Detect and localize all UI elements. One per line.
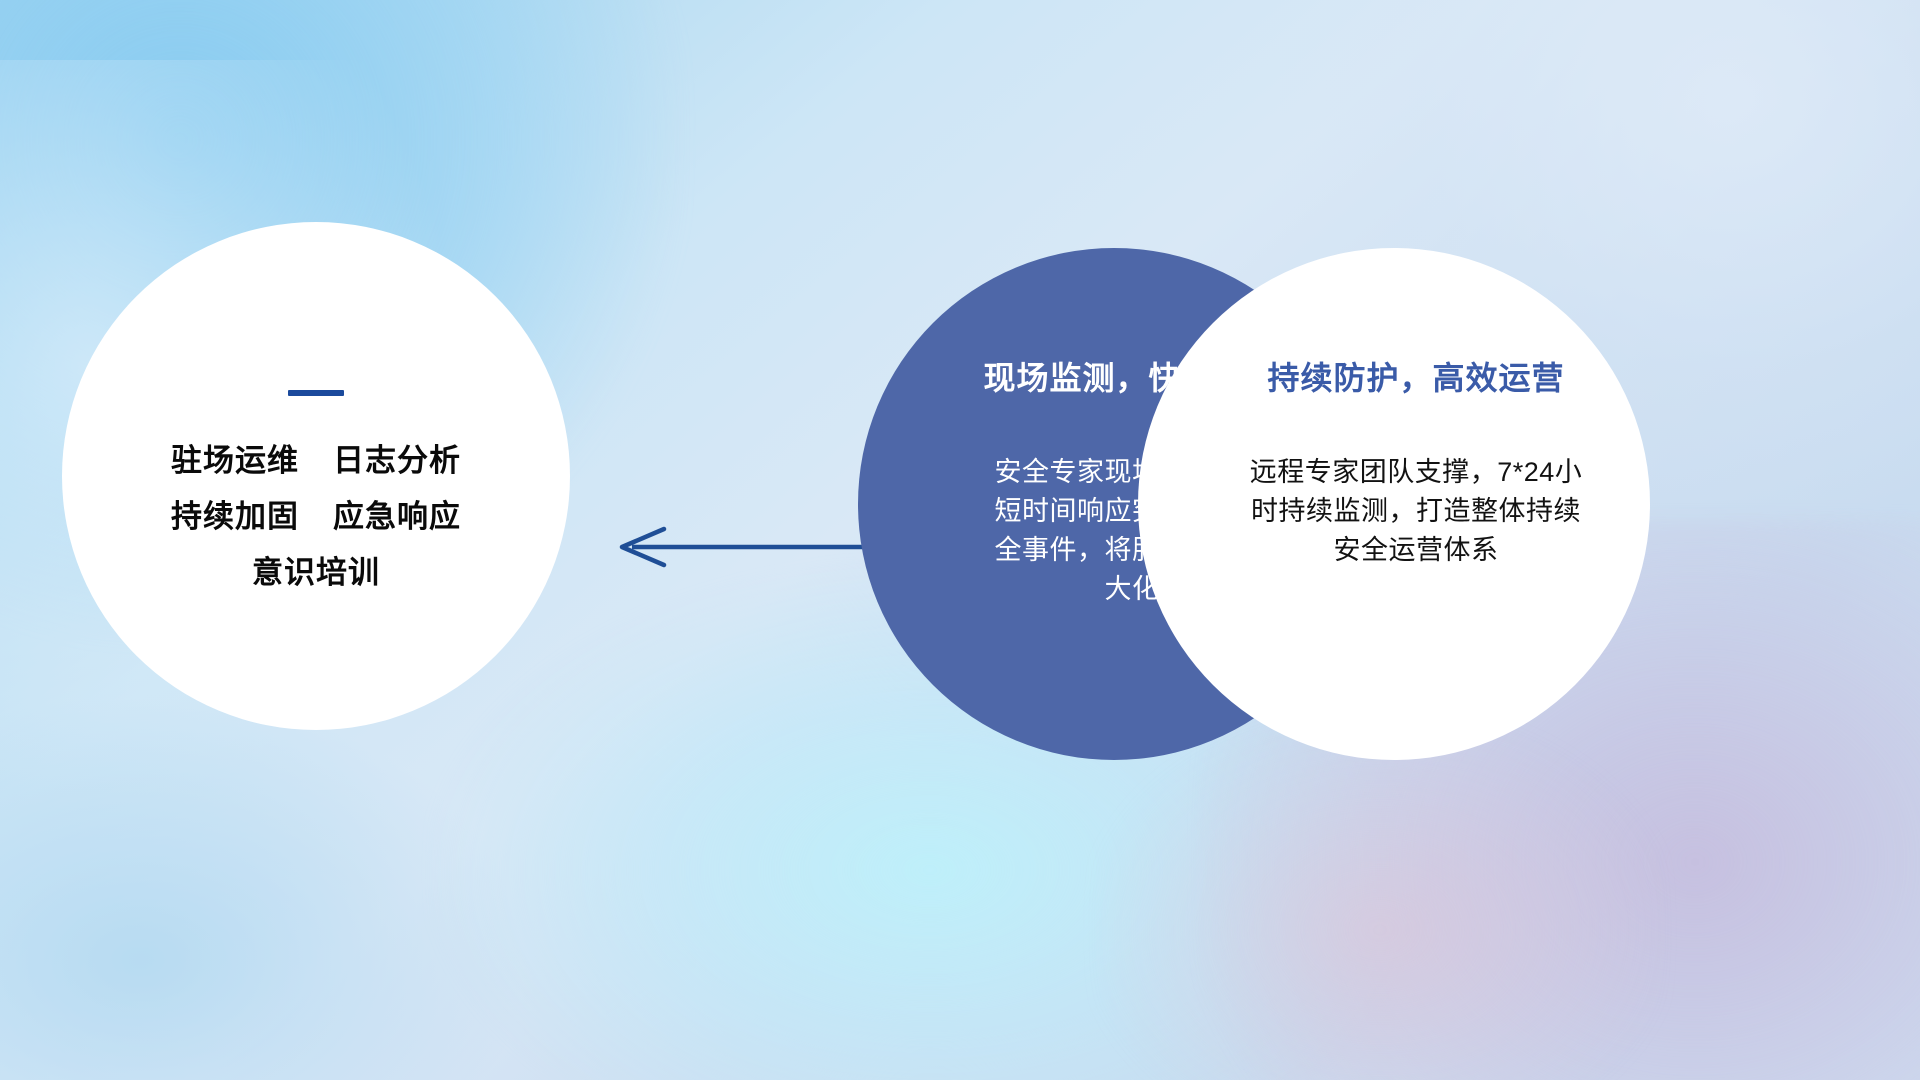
slide-canvas: 现场监测，快速响应 安全专家现场保障，最短时间响应突发网络安全事件，将服务效率最… bbox=[0, 0, 1920, 1080]
capability-row: 驻场运维 日志分析 bbox=[171, 444, 461, 478]
capability-item: 日志分析 bbox=[333, 444, 461, 478]
circle-service-capabilities-content: 驻场运维 日志分析 持续加固 应急响应 意识培训 bbox=[62, 222, 570, 590]
circle-continuous-protection-body: 远程专家团队支撑，7*24小时持续监测，打造整体持续安全运营体系 bbox=[1248, 453, 1584, 570]
capability-item: 驻场运维 bbox=[171, 444, 299, 478]
capability-list: 驻场运维 日志分析 持续加固 应急响应 意识培训 bbox=[171, 444, 461, 590]
circle-service-capabilities[interactable]: 驻场运维 日志分析 持续加固 应急响应 意识培训 bbox=[62, 222, 570, 730]
circle-continuous-protection[interactable]: 持续防护，高效运营 远程专家团队支撑，7*24小时持续监测，打造整体持续安全运营… bbox=[1138, 248, 1650, 760]
capability-item: 持续加固 bbox=[171, 500, 299, 534]
circle-continuous-protection-title: 持续防护，高效运营 bbox=[1267, 360, 1564, 397]
capability-item: 意识培训 bbox=[252, 556, 380, 590]
circle-continuous-protection-content: 持续防护，高效运营 远程专家团队支撑，7*24小时持续监测，打造整体持续安全运营… bbox=[1116, 248, 1672, 570]
capability-row: 持续加固 应急响应 bbox=[171, 500, 461, 534]
divider-dash-icon bbox=[288, 390, 344, 396]
capability-row: 意识培训 bbox=[252, 556, 380, 590]
capability-item: 应急响应 bbox=[333, 500, 461, 534]
flow-arrow-left-icon bbox=[622, 529, 870, 565]
